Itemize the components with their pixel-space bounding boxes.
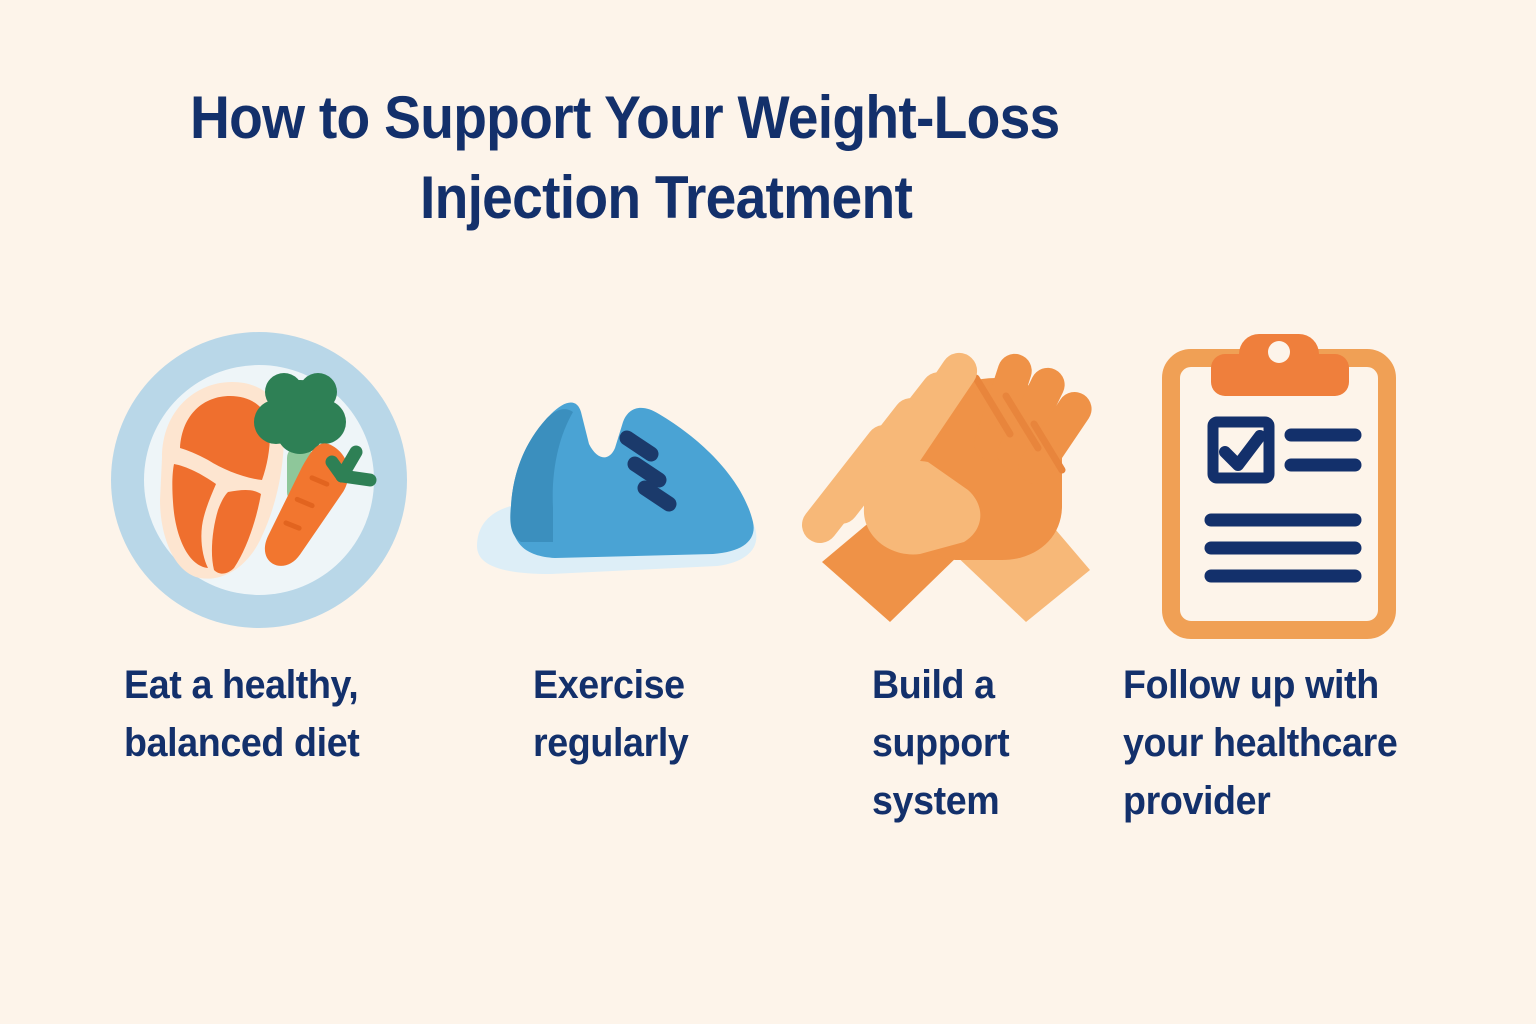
caption-line: system [872,772,1096,830]
caption-line: regularly [533,714,770,772]
caption-line: balanced diet [124,714,415,772]
clipboard-clip [1211,334,1349,396]
caption-line: your healthcare [1123,714,1435,772]
caption-line: Eat a healthy, [124,656,415,714]
tip-item-support-system: Build a support system [800,330,1110,830]
tip-item-healthy-diet: Eat a healthy, balanced diet [104,330,434,772]
tips-row: Eat a healthy, balanced diet [0,330,1536,870]
tip-caption-exercise: Exercise regularly [533,656,770,772]
tip-caption-healthy-diet: Eat a healthy, balanced diet [124,656,415,772]
page-title-line-2: Injection Treatment [420,158,1294,238]
caption-line: Follow up with [1123,656,1435,714]
caption-line: Build a [872,656,1096,714]
page-title-line-1: How to Support Your Weight-Loss [190,78,1276,158]
infographic-canvas: How to Support Your Weight-Loss Injectio… [0,0,1536,1024]
tip-caption-follow-up: Follow up with your healthcare provider [1123,656,1435,830]
caption-line: provider [1123,772,1435,830]
tip-item-exercise: Exercise regularly [455,330,785,772]
tip-caption-support-system: Build a support system [872,656,1096,830]
tip-item-follow-up: Follow up with your healthcare provider [1115,330,1455,830]
caption-line: Exercise [533,656,770,714]
clasped-hands-icon [800,330,1110,630]
sneaker-icon [455,330,785,630]
caption-line: support [872,714,1096,772]
healthy-plate-icon [104,330,434,630]
clipboard-checklist-icon [1115,330,1455,630]
page-title: How to Support Your Weight-Loss Injectio… [190,78,1370,238]
